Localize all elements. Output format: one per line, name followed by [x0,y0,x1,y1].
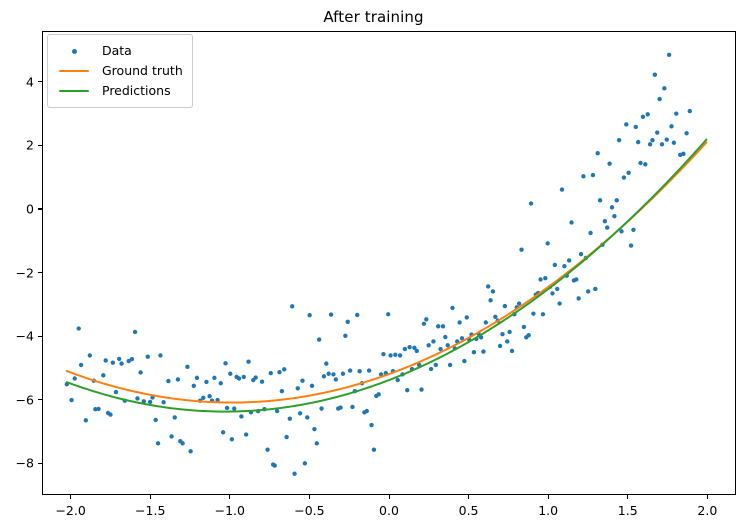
data-point [672,141,676,145]
data-point [581,174,585,178]
data-point [422,322,426,326]
data-point [569,220,573,224]
legend-label: Ground truth [102,65,183,78]
data-point [448,363,452,367]
data-point [612,214,616,218]
legend-label: Data [102,45,132,58]
data-point [541,312,545,316]
data-point [393,353,397,357]
data-point [312,427,316,431]
data-point [669,124,673,128]
data-point [111,360,115,364]
x-tick-label: −1.0 [215,503,245,518]
data-point [298,411,302,415]
data-point [173,415,177,419]
data-point [553,263,557,267]
legend-marker-dot-icon [72,49,77,54]
data-point [562,264,566,268]
data-point [135,396,139,400]
series-line-ground-truth [67,142,707,402]
data-point [96,407,100,411]
data-point [180,441,184,445]
data-point [465,315,469,319]
data-point [331,372,335,376]
data-point [242,375,246,379]
y-tick-mark [38,81,42,82]
x-tick-mark [468,495,469,499]
data-point [221,430,225,434]
x-tick-mark [150,495,151,499]
data-point [138,370,142,374]
data-point [586,289,590,293]
data-point [634,125,638,129]
data-point [367,368,371,372]
data-point [481,349,485,353]
data-point [660,142,664,146]
data-point [650,138,654,142]
legend-key-line [55,64,93,78]
data-point [543,276,547,280]
x-tick-label: −0.5 [294,503,324,518]
data-point [253,375,257,379]
data-point [346,320,350,324]
data-point [424,317,428,321]
data-point [201,396,205,400]
data-point [195,376,199,380]
data-point [277,370,281,374]
data-point [403,347,407,351]
data-point [598,198,602,202]
data-point [643,162,647,166]
data-point [372,448,376,452]
data-point [484,320,488,324]
data-point [510,349,514,353]
data-point [185,365,189,369]
data-point [519,248,523,252]
data-point [450,306,454,310]
data-point [546,241,550,245]
data-point [324,361,328,365]
data-point [357,369,361,373]
data-point [376,392,380,396]
data-point [636,140,640,144]
data-point [239,414,243,418]
data-point [341,372,345,376]
y-tick-mark [38,145,42,146]
data-point [119,361,123,365]
data-point [405,388,409,392]
y-tick-label: −2 [0,265,34,280]
data-point [615,198,619,202]
data-point [322,374,326,378]
data-point [133,330,137,334]
data-point [588,231,592,235]
x-tick-mark [548,495,549,499]
data-point [204,380,208,384]
data-point [529,201,533,205]
x-tick-label: 2.0 [697,503,717,518]
data-point [486,284,490,288]
x-tick-label: −2.0 [55,503,85,518]
data-point [290,304,294,308]
data-point [161,400,165,404]
data-point [626,171,630,175]
data-point [655,130,659,134]
data-point [648,142,652,146]
data-point [388,353,392,357]
data-point [574,277,578,281]
data-point [338,405,342,409]
data-point [230,437,234,441]
x-tick-mark [309,495,310,499]
data-point [488,298,492,302]
data-point [386,312,390,316]
data-point [407,345,411,349]
data-point [550,291,554,295]
series-line-predictions [67,140,707,412]
data-point [146,354,150,358]
x-tick-mark [389,495,390,499]
data-point [436,324,440,328]
data-point [610,205,614,209]
data-point [365,409,369,413]
data-point [219,381,223,385]
data-point [348,368,352,372]
data-point [576,296,580,300]
data-point [641,115,645,119]
legend-key-line [55,84,93,98]
data-point [517,301,521,305]
data-point [176,377,180,381]
legend-entry-ground-truth: Ground truth [55,61,183,81]
legend-entry-data: Data [55,41,183,61]
data-point [303,461,307,465]
data-point [593,287,597,291]
data-point [77,326,81,330]
x-tick-label: 1.0 [538,503,558,518]
y-tick-mark [38,336,42,337]
data-point [579,252,583,256]
data-point [498,344,502,348]
x-tick-label: 0.0 [379,503,399,518]
data-point [117,357,121,361]
data-point [596,151,600,155]
data-point [244,432,248,436]
data-point [555,287,559,291]
data-point [607,161,611,165]
data-point [426,343,430,347]
data-point [148,400,152,404]
data-point [326,372,330,376]
data-point [108,412,112,416]
data-point [624,122,628,126]
data-point [522,325,526,329]
data-point [538,277,542,281]
data-point [329,312,333,316]
data-point [531,311,535,315]
data-point [169,434,173,438]
data-point [591,173,595,177]
matplotlib-figure: After training 420−2−4−6−8 −2.0−1.5−1.0−… [0,0,747,528]
data-point [665,137,669,141]
scatter-series-data [65,53,692,476]
data-point [280,389,284,393]
data-point [507,330,511,334]
y-tick-label: −6 [0,392,34,407]
data-point [667,53,671,57]
data-point [419,387,423,391]
data-point [237,376,241,380]
data-point [188,449,192,453]
data-point [246,360,250,364]
data-point [526,333,530,337]
data-point [130,357,134,361]
y-tick-mark [38,463,42,464]
legend-line-swatch-icon [59,70,89,72]
data-point [223,361,227,365]
data-point [681,152,685,156]
data-point [282,367,286,371]
data-point [567,258,571,262]
data-point [653,73,657,77]
x-tick-mark [229,495,230,499]
data-point [688,109,692,113]
data-point [317,337,321,341]
legend-key-marker [55,44,93,58]
data-point [166,379,170,383]
data-point [638,161,642,165]
y-tick-label: −4 [0,329,34,344]
data-point [629,243,633,247]
data-point [88,353,92,357]
data-point [603,219,607,223]
data-point [288,416,292,420]
data-point [350,405,354,409]
data-point [228,372,232,376]
y-tick-mark [38,208,42,209]
data-point [491,289,495,293]
x-tick-mark [707,495,708,499]
data-point [232,406,236,410]
data-point [69,398,73,402]
legend: DataGround truthPredictions [47,34,193,108]
data-point [156,441,160,445]
data-point [212,376,216,380]
data-point [505,339,509,343]
data-point [398,353,402,357]
data-point [307,313,311,317]
data-point [617,138,621,142]
y-tick-mark [38,399,42,400]
legend-entry-predictions: Predictions [55,81,183,101]
x-tick-label: −1.5 [135,503,165,518]
data-point [472,350,476,354]
y-tick-label: 4 [0,74,34,89]
data-point [296,386,300,390]
data-point [334,377,338,381]
data-point [434,363,438,367]
page-title: After training [0,8,747,26]
data-point [114,390,118,394]
data-point [446,343,450,347]
data-point [265,448,269,452]
data-point [443,335,447,339]
x-tick-mark [70,495,71,499]
data-point [622,175,626,179]
data-point [315,441,319,445]
data-point [631,228,635,232]
data-point [343,334,347,338]
data-point [153,418,157,422]
data-point [103,358,107,362]
data-point [292,472,296,476]
data-point [300,379,304,383]
legend-label: Predictions [102,85,171,98]
data-point [605,225,609,229]
data-point [84,418,88,422]
y-tick-label: 2 [0,138,34,153]
data-point [207,394,211,398]
y-tick-label: 0 [0,201,34,216]
data-point [684,131,688,135]
x-tick-mark [627,495,628,499]
data-point [646,112,650,116]
data-point [503,304,507,308]
data-point [101,373,105,377]
data-point [73,376,77,380]
y-tick-label: −8 [0,456,34,471]
data-point [355,313,359,317]
data-point [369,423,373,427]
data-point [557,301,561,305]
data-point [273,463,277,467]
data-point [674,111,678,115]
data-point [381,352,385,356]
data-point [657,97,661,101]
data-point [396,378,400,382]
data-point [429,367,433,371]
data-point [225,406,229,410]
data-point [284,435,288,439]
data-point [310,384,314,388]
data-point [431,339,435,343]
data-point [662,86,666,90]
data-point [269,371,273,375]
legend-line-swatch-icon [59,90,89,92]
data-point [462,359,466,363]
data-point [319,406,323,410]
data-point [192,384,196,388]
x-tick-label: 1.5 [618,503,638,518]
data-point [560,187,564,191]
data-point [441,324,445,328]
y-tick-mark [38,272,42,273]
data-point [305,415,309,419]
data-point [158,353,162,357]
x-tick-label: 0.5 [459,503,479,518]
data-point [500,332,504,336]
data-point [493,315,497,319]
data-point [457,320,461,324]
data-point [260,379,264,383]
data-point [415,349,419,353]
data-point [79,363,83,367]
